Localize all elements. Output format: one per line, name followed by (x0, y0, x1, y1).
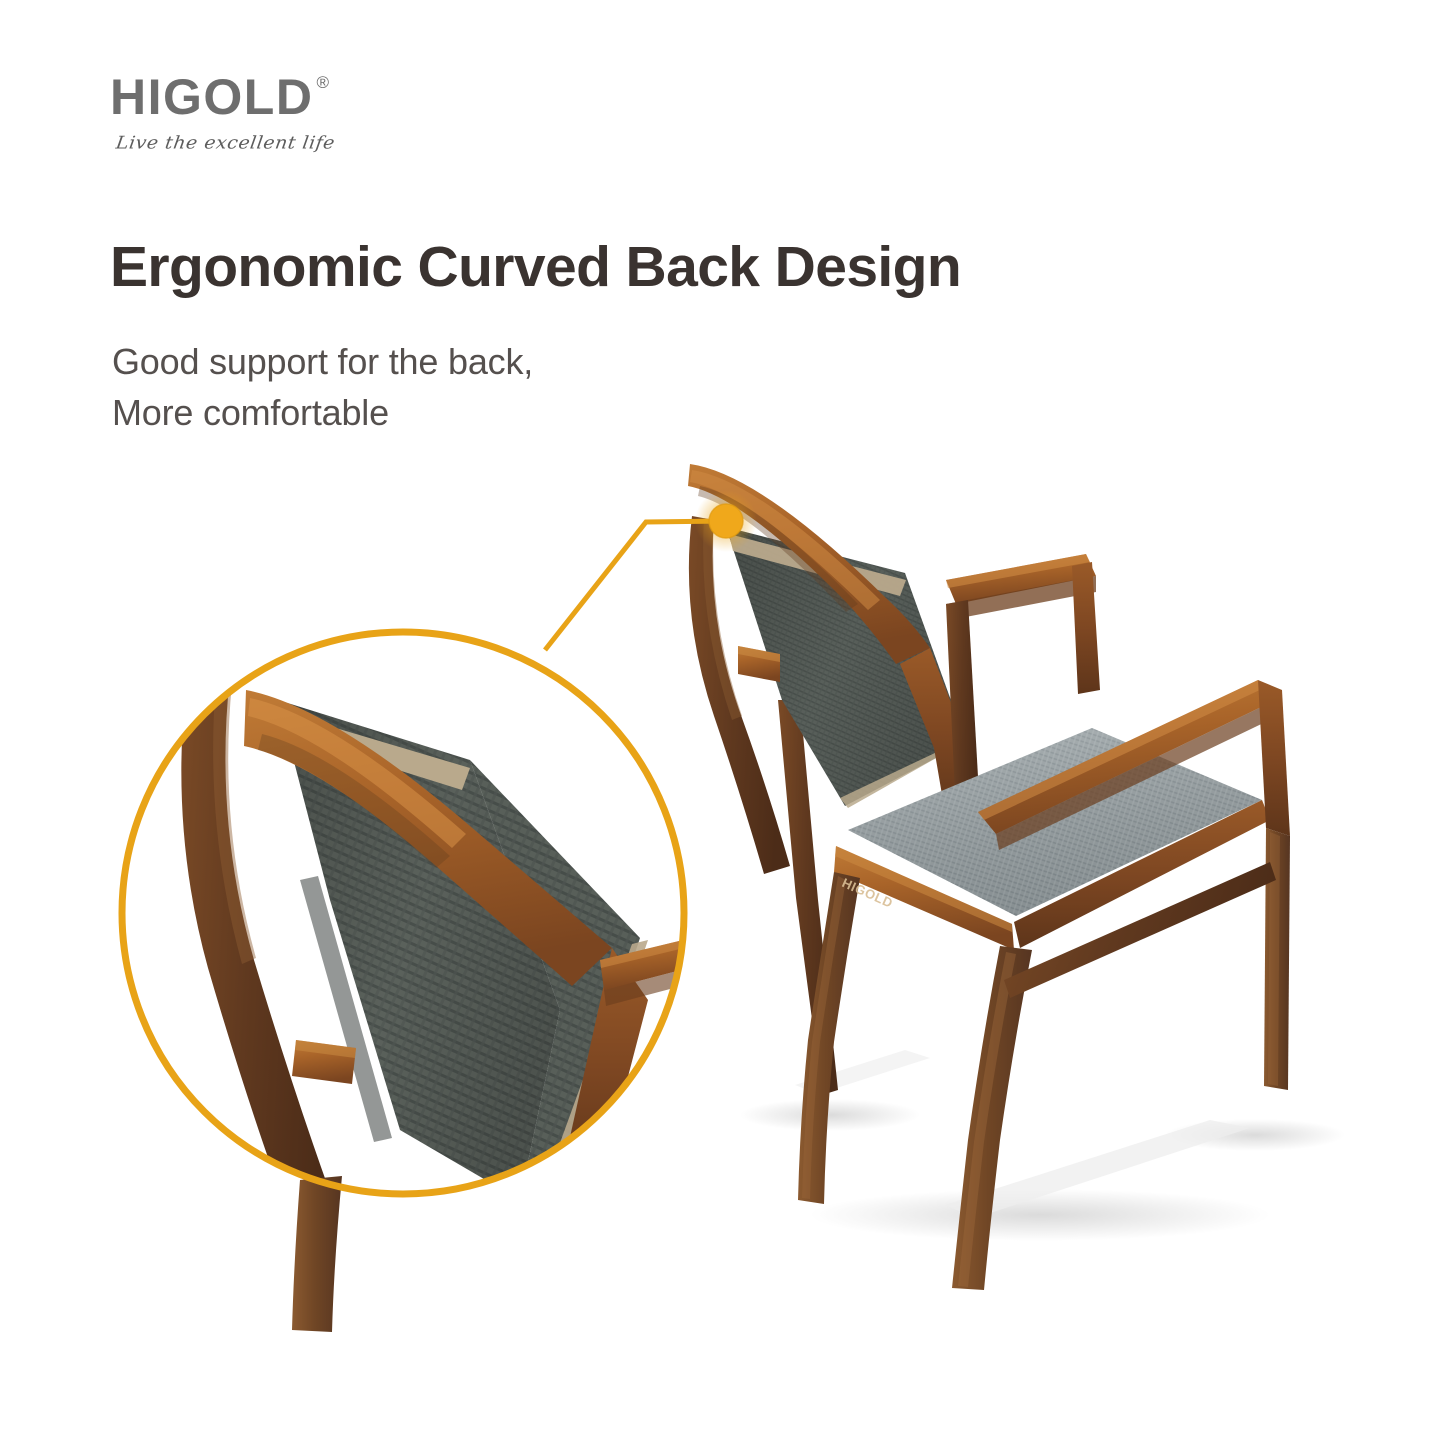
product-illustration: HIGOLD (0, 0, 1445, 1445)
magnified-leg-overflow (292, 1176, 342, 1332)
callout-magnifier (122, 632, 704, 1352)
magnified-back-detail (122, 632, 704, 1352)
marketing-slide: HIGOLD ® Live the excellent life Ergonom… (0, 0, 1445, 1445)
product-chair-main: HIGOLD (688, 464, 1290, 1290)
callout-marker[interactable] (695, 490, 757, 552)
